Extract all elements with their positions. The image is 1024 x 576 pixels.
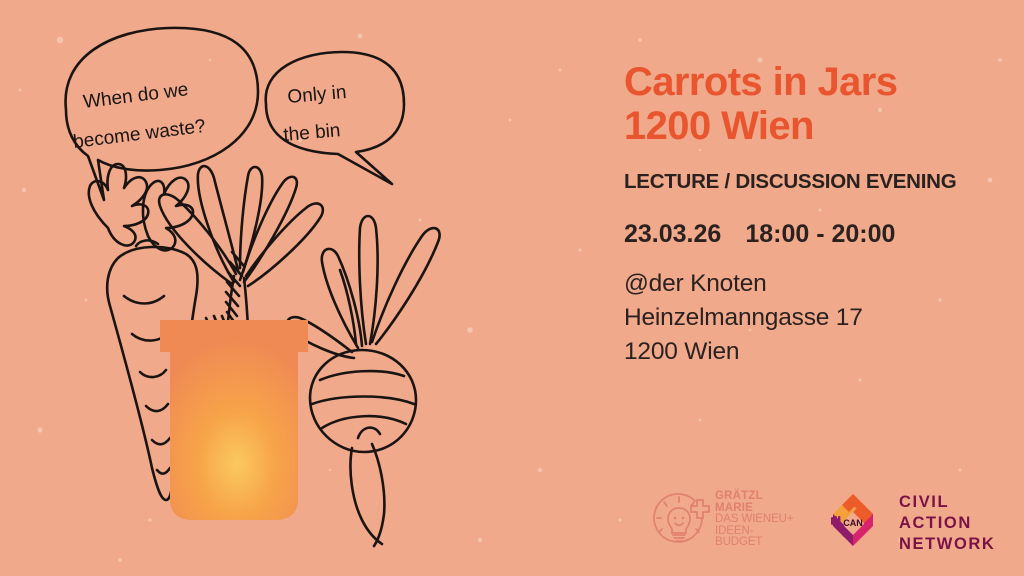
event-venue: @der Knoten Heinzelmanngasse 17 1200 Wie… (624, 267, 1004, 369)
can-wordmark: CIVIL ACTION NETWORK (899, 492, 995, 555)
bubble-right-line1: Only in (287, 82, 348, 108)
civil-action-network-logo: CAN CIVIL ACTION NETWORK (820, 490, 995, 556)
can-name-line-1: CIVIL (899, 492, 995, 513)
bubble-left-line1: When do we (82, 79, 189, 113)
title-line-2: 1200 Wien (624, 104, 1004, 148)
event-time: 18:00 - 20:00 (745, 220, 895, 248)
can-mark-text: CAN (843, 518, 863, 528)
event-poster: When do we become waste? Only in the bin… (0, 0, 1024, 576)
event-details: Carrots in Jars 1200 Wien LECTURE / DISC… (624, 60, 1004, 369)
can-name-line-3: NETWORK (899, 534, 995, 555)
bubble-left-line2: become waste? (72, 116, 207, 153)
can-name-line-2: ACTION (899, 513, 995, 534)
graetzlmarie-wordmark: GRÄTZL MARIE DAS WIENEU+ IDEEN- BUDGET (715, 489, 793, 549)
gm-sub-line-3: BUDGET (715, 537, 793, 549)
title-line-1: Carrots in Jars (624, 60, 1004, 104)
lightbulb-idea-icon (648, 488, 710, 550)
venue-city: 1200 Wien (624, 335, 1004, 369)
bubble-text-layer: When do we become waste? Only in the bin (0, 0, 600, 576)
event-date: 23.03.26 (624, 220, 721, 248)
logo-row: GRÄTZL MARIE DAS WIENEU+ IDEEN- BUDGET (648, 488, 998, 568)
bubble-right-line2: the bin (283, 120, 342, 146)
graetzlmarie-logo: GRÄTZL MARIE DAS WIENEU+ IDEEN- BUDGET (648, 488, 793, 550)
can-diamond-icon: CAN (820, 490, 886, 556)
venue-street: Heinzelmanngasse 17 (624, 301, 1004, 335)
event-subtitle: LECTURE / DISCUSSION EVENING (624, 170, 1004, 194)
event-datetime: 23.03.2618:00 - 20:00 (624, 220, 1004, 249)
venue-name: @der Knoten (624, 267, 1004, 301)
page-title: Carrots in Jars 1200 Wien (624, 60, 1004, 148)
